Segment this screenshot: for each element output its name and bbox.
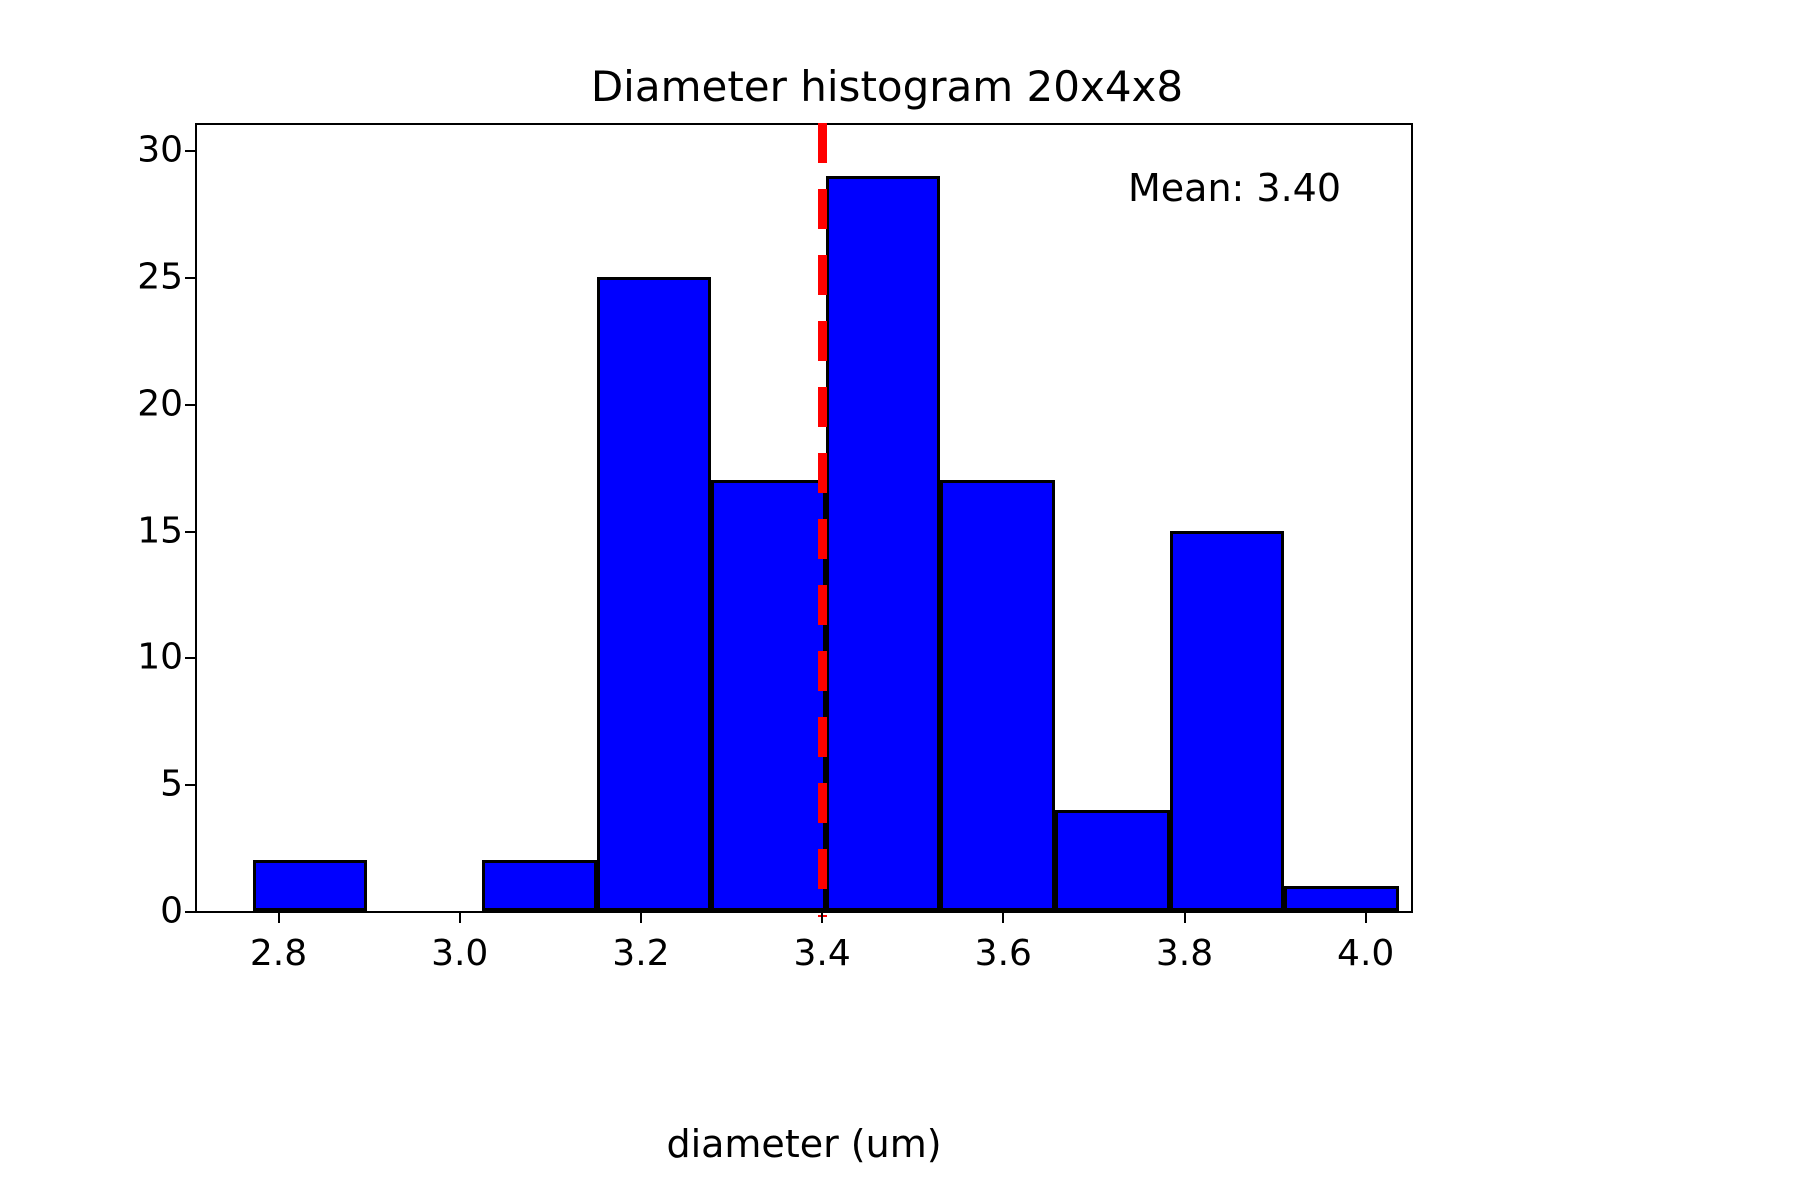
- y-axis-tick-label: 0: [160, 891, 183, 932]
- y-axis-tick-mark: [185, 657, 197, 659]
- x-axis-tick-label: 3.2: [612, 933, 669, 974]
- y-axis-tick-mark: [185, 404, 197, 406]
- mean-vertical-line: [818, 123, 827, 917]
- x-axis-tick-mark: [459, 911, 461, 923]
- histogram-bar: [597, 277, 712, 911]
- x-axis-tick-label: 3.6: [975, 933, 1032, 974]
- histogram-figure: Diameter histogram 20x4x8 0510152025302.…: [0, 0, 1800, 1200]
- y-axis-tick-mark: [185, 531, 197, 533]
- histogram-bar: [826, 176, 941, 911]
- y-axis-tick-label: 30: [137, 130, 183, 171]
- y-axis-tick-label: 15: [137, 510, 183, 551]
- x-axis-tick-label: 3.0: [431, 933, 488, 974]
- x-axis-tick-label: 3.4: [793, 933, 850, 974]
- y-axis-tick-label: 5: [160, 764, 183, 805]
- histogram-bar: [1170, 531, 1285, 911]
- plot-axes: 0510152025302.83.03.23.43.63.84.0: [195, 123, 1413, 913]
- x-axis-tick-mark: [278, 911, 280, 923]
- x-axis-tick-mark: [640, 911, 642, 923]
- plot-area: [197, 125, 1411, 911]
- histogram-bar: [1284, 886, 1399, 911]
- histogram-bar: [711, 480, 826, 911]
- x-axis-label: diameter (um): [195, 1122, 1413, 1166]
- y-axis-tick-mark: [185, 911, 197, 913]
- x-axis-tick-mark: [1184, 911, 1186, 923]
- x-axis-tick-mark: [1365, 911, 1367, 923]
- y-axis-tick-mark: [185, 784, 197, 786]
- x-axis-tick-label: 2.8: [250, 933, 307, 974]
- mean-annotation-text: Mean: 3.40: [1128, 166, 1341, 210]
- histogram-bar: [482, 860, 597, 911]
- y-axis-tick-mark: [185, 277, 197, 279]
- chart-title: Diameter histogram 20x4x8: [0, 62, 1787, 111]
- x-axis-tick-label: 4.0: [1337, 933, 1394, 974]
- y-axis-tick-mark: [185, 150, 197, 152]
- x-axis-tick-mark: [821, 911, 823, 923]
- y-axis-tick-label: 25: [137, 257, 183, 298]
- x-axis-tick-label: 3.8: [1156, 933, 1213, 974]
- histogram-bar: [1055, 810, 1170, 911]
- y-axis-tick-label: 20: [137, 383, 183, 424]
- x-axis-tick-mark: [1002, 911, 1004, 923]
- y-axis-tick-label: 10: [137, 637, 183, 678]
- histogram-bar: [940, 480, 1055, 911]
- histogram-bar: [253, 860, 368, 911]
